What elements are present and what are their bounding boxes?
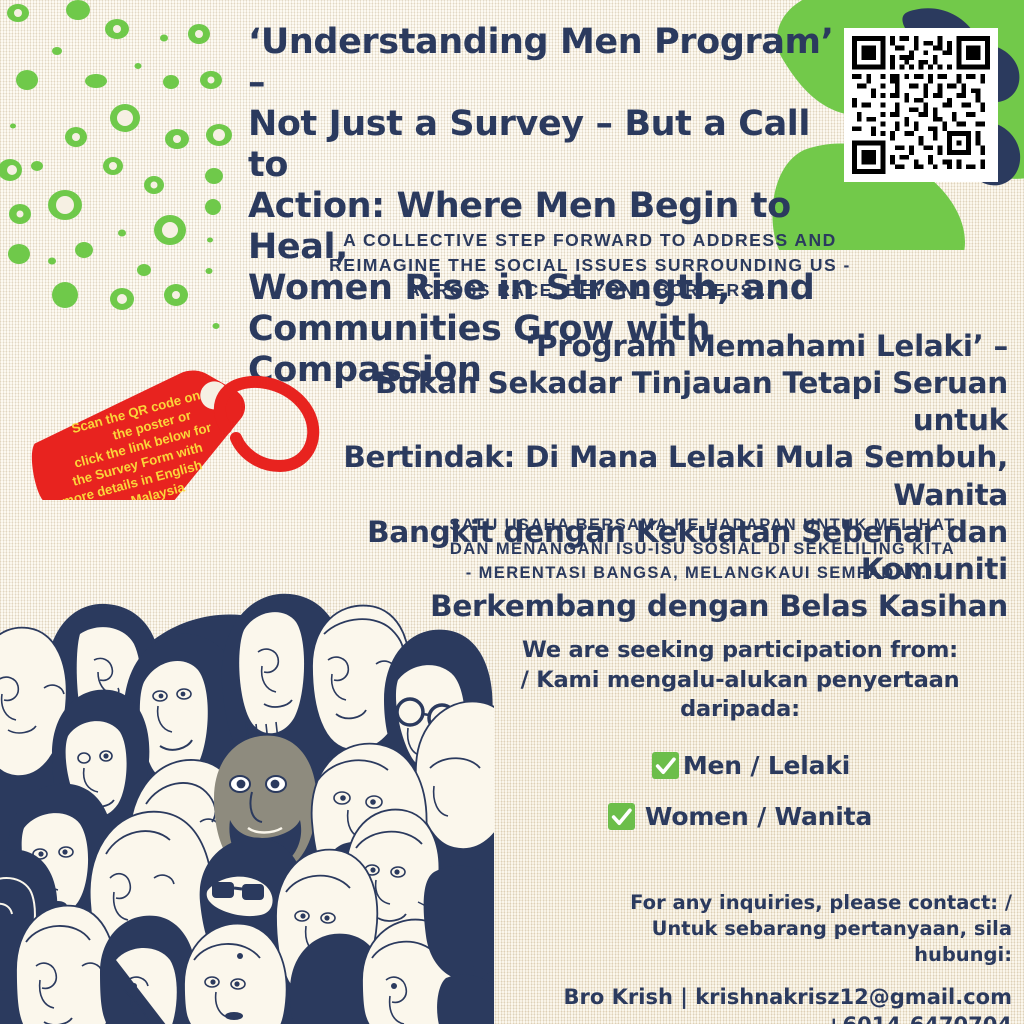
- contact-phone[interactable]: +6014-6470704: [560, 1012, 1012, 1024]
- subtitle-malay: SATU USAHA BERSAMA KE HADAPAN UNTUK MELI…: [395, 514, 1010, 586]
- participation-prompt-english: We are seeking participation from:: [470, 636, 1010, 666]
- checkbox-option-women[interactable]: Women / Wanita: [470, 802, 1010, 831]
- headline-ms-line: Bukan Sekadar Tinjauan Tetapi Seruan unt…: [300, 365, 1008, 439]
- subtitle-en-line: A COLLECTIVE STEP FORWARD TO ADDRESS AND: [300, 228, 880, 253]
- crowd-of-faces-illustration: [0, 572, 494, 1024]
- contact-name-and-email[interactable]: Bro Krish | krishnakrisz12@gmail.com: [560, 984, 1012, 1012]
- green-dot-pattern-decoration: [0, 0, 260, 345]
- contact-section: For any inquiries, please contact: / Unt…: [560, 890, 1012, 1024]
- checkbox-label-women: Women / Wanita: [645, 802, 872, 831]
- subtitle-english: A COLLECTIVE STEP FORWARD TO ADDRESS AND…: [300, 228, 880, 303]
- subtitle-ms-line: DAN MENANGANI ISU-ISU SOSIAL DI SEKELILI…: [395, 538, 1010, 562]
- contact-prompt-malay: Untuk sebarang pertanyaan, sila hubungi:: [560, 916, 1012, 968]
- headline-ms-line: Bertindak: Di Mana Lelaki Mula Sembuh, W…: [300, 439, 1008, 513]
- subtitle-en-line: ACROSS RACE, BEYOND BORDERS...: [300, 278, 880, 303]
- checkbox-option-men[interactable]: Men / Lelaki: [470, 751, 1010, 780]
- checkmark-icon[interactable]: [652, 752, 679, 779]
- qr-code[interactable]: [847, 31, 995, 179]
- poster-canvas: ‘Understanding Men Program’ – Not Just a…: [0, 0, 1024, 1024]
- headline-en-line: ‘Understanding Men Program’ –: [248, 22, 840, 104]
- participation-section: We are seeking participation from: / Kam…: [470, 636, 1010, 831]
- contact-prompt-english: For any inquiries, please contact: /: [560, 890, 1012, 916]
- headline-ms-line: Berkembang dengan Belas Kasihan: [300, 588, 1008, 625]
- participation-prompt-malay: / Kami mengalu-alukan penyertaan daripad…: [470, 666, 1010, 725]
- red-call-to-action-tag[interactable]: Scan the QR code on the poster or click …: [18, 360, 338, 500]
- checkbox-label-men: Men / Lelaki: [683, 751, 850, 780]
- headline-en-line: Not Just a Survey – But a Call to: [248, 104, 840, 186]
- subtitle-ms-line: - MERENTASI BANGSA, MELANGKAUI SEMPADAN.…: [395, 562, 1010, 586]
- subtitle-ms-line: SATU USAHA BERSAMA KE HADAPAN UNTUK MELI…: [395, 514, 1010, 538]
- headline-ms-line: ‘Program Memahami Lelaki’ –: [300, 328, 1008, 365]
- checkmark-icon[interactable]: [608, 803, 635, 830]
- subtitle-en-line: REIMAGINE THE SOCIAL ISSUES SURROUNDING …: [300, 253, 880, 278]
